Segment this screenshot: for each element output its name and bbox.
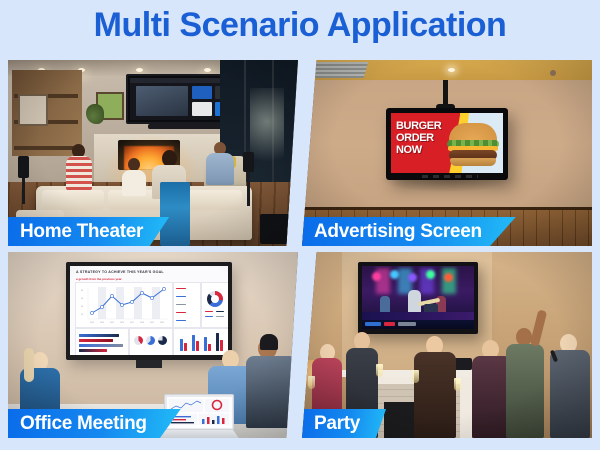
floor-speaker xyxy=(243,152,254,172)
legend-swatch xyxy=(205,311,213,312)
bar xyxy=(216,333,219,351)
speaker xyxy=(454,358,472,370)
dashboard-screen: A STRATEGY TO ACHIEVE THIS YEAR'S GOAL a… xyxy=(70,266,228,355)
mini-donut xyxy=(134,336,143,345)
svg-text:2019: 2019 xyxy=(150,322,154,324)
tree-outside xyxy=(250,88,284,184)
subwoofer xyxy=(260,214,290,244)
legend-swatch xyxy=(176,304,186,305)
mini-donut xyxy=(146,336,155,345)
bar xyxy=(79,349,107,352)
svg-text:20: 20 xyxy=(81,314,83,316)
tv-screen-concert xyxy=(362,266,474,329)
bar xyxy=(79,339,113,342)
legend-swatch xyxy=(176,296,186,297)
ad-screen: BURGER ORDER NOW xyxy=(391,113,503,173)
donut-hole xyxy=(211,295,219,303)
caption-advertising-screen: Advertising Screen xyxy=(302,217,516,246)
air-vent xyxy=(306,62,369,78)
legend-swatch xyxy=(216,311,224,312)
spotlight-icon xyxy=(390,270,399,279)
scenario-grid: Home Theater BURGER xyxy=(8,60,592,438)
display-mount xyxy=(136,360,162,368)
wall-art xyxy=(18,94,48,126)
bar xyxy=(204,337,207,351)
tv-tile xyxy=(192,86,212,99)
wine-glass xyxy=(308,376,315,389)
champagne-glass xyxy=(412,370,419,383)
tv-tile-hero xyxy=(136,86,188,116)
overlay-chip xyxy=(398,322,416,326)
person-body xyxy=(246,356,298,428)
overlay-chip xyxy=(365,322,381,326)
svg-text:2014: 2014 xyxy=(100,322,104,324)
sofa-cushion xyxy=(42,190,104,210)
svg-text:2017: 2017 xyxy=(130,322,134,324)
spotlight-icon xyxy=(444,273,453,282)
person-body xyxy=(122,170,146,196)
legend-swatch xyxy=(205,316,213,317)
spotlight-icon xyxy=(372,272,381,281)
bar xyxy=(180,339,183,351)
legend-swatch xyxy=(176,312,186,313)
scenario-card-office-meeting[interactable]: A STRATEGY TO ACHIEVE THIS YEAR'S GOAL a… xyxy=(8,252,298,438)
bar xyxy=(192,335,195,351)
mini-donut-panel xyxy=(129,328,173,355)
speaker-stand xyxy=(22,178,25,204)
shelf xyxy=(14,146,78,150)
spotlight-icon xyxy=(426,270,435,279)
legend-swatch xyxy=(176,288,186,289)
ceiling-light-icon xyxy=(448,68,455,72)
person-hair xyxy=(24,348,34,382)
stage-front xyxy=(362,312,474,320)
svg-text:2020: 2020 xyxy=(160,322,164,324)
person-body xyxy=(550,350,590,438)
bun-bottom xyxy=(450,158,496,166)
hbar-panel xyxy=(75,328,129,355)
floor-speaker xyxy=(18,156,29,178)
person-body xyxy=(66,156,92,190)
line-chart-svg: 20132014 20152016 20172018 20192020 8060… xyxy=(76,283,172,327)
dashboard-subtitle: a growth from the previous year xyxy=(76,277,122,281)
svg-text:80: 80 xyxy=(81,290,83,292)
bar xyxy=(196,341,199,351)
donut-panel xyxy=(201,282,228,328)
champagne-glass xyxy=(454,378,461,391)
throw-blanket xyxy=(160,182,190,246)
line-chart-panel: 20132014 20152016 20172018 20192020 8060… xyxy=(75,282,173,328)
tv-wall-shadow xyxy=(380,178,514,192)
burger-image xyxy=(447,123,499,165)
svg-text:60: 60 xyxy=(81,298,83,300)
sprinkler-icon xyxy=(550,70,556,76)
svg-text:2016: 2016 xyxy=(120,322,124,324)
ceiling-light-icon xyxy=(136,68,143,72)
legend-panel xyxy=(173,282,201,328)
conference-display: A STRATEGY TO ACHIEVE THIS YEAR'S GOAL a… xyxy=(66,262,232,360)
digital-signage-display: BURGER ORDER NOW xyxy=(386,108,508,180)
scenario-card-party[interactable]: Party xyxy=(302,252,592,438)
svg-text:40: 40 xyxy=(81,306,83,308)
bar xyxy=(184,343,187,351)
person-body xyxy=(206,153,234,185)
tv-tile-hbo xyxy=(192,102,212,116)
mini-donut xyxy=(158,336,167,345)
bar xyxy=(79,344,123,347)
svg-text:2018: 2018 xyxy=(140,322,144,324)
caption-office-meeting: Office Meeting xyxy=(8,409,181,438)
grouped-bar-panel xyxy=(173,328,228,355)
caption-party: Party xyxy=(302,409,386,438)
scenario-card-advertising-screen[interactable]: BURGER ORDER NOW xyxy=(302,60,592,246)
plant-icon xyxy=(86,104,104,124)
television xyxy=(358,262,478,334)
broadcast-overlay-bar xyxy=(362,320,474,329)
svg-text:2013: 2013 xyxy=(90,322,94,324)
poster-root: Multi Scenario Application xyxy=(0,0,600,450)
legend-swatch xyxy=(216,316,224,317)
person-hair xyxy=(260,334,278,350)
speaker-stand xyxy=(247,172,250,206)
scenario-card-home-theater[interactable]: Home Theater xyxy=(8,60,298,246)
bar xyxy=(220,340,223,351)
drink-glass xyxy=(376,364,383,377)
page-title: Multi Scenario Application xyxy=(0,6,600,45)
svg-text:2015: 2015 xyxy=(110,322,114,324)
spotlight-icon xyxy=(408,273,417,282)
legend-swatch xyxy=(176,320,186,321)
dashboard-title: A STRATEGY TO ACHIEVE THIS YEAR'S GOAL xyxy=(76,270,164,274)
laptop-keyboard[interactable] xyxy=(154,430,240,438)
ceiling-light-icon xyxy=(204,68,211,72)
bar xyxy=(208,344,211,351)
person-body xyxy=(414,352,456,438)
person-body xyxy=(506,344,544,438)
bar xyxy=(79,334,119,337)
caption-home-theater: Home Theater xyxy=(8,217,169,246)
overlay-chip xyxy=(384,322,395,326)
